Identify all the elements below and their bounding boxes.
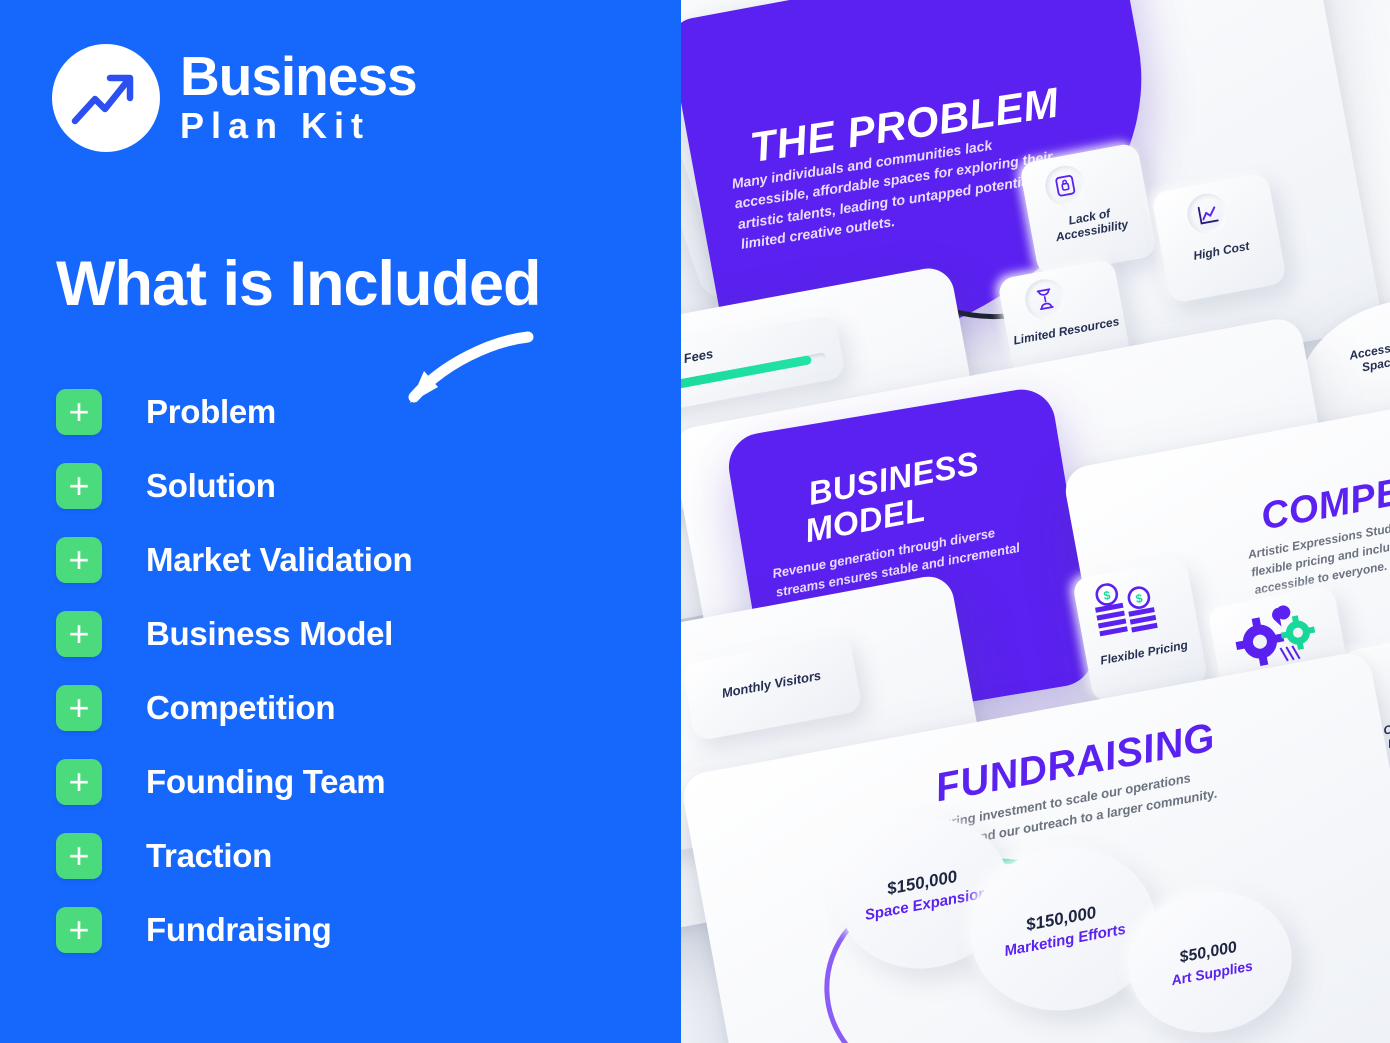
feature-label-competition: Competition	[146, 689, 335, 727]
feature-item-fundraising[interactable]: + Fundraising	[56, 905, 616, 954]
plus-icon: +	[56, 685, 102, 731]
lock-document-icon	[1042, 162, 1089, 209]
plus-icon: +	[56, 611, 102, 657]
feature-label-traction: Traction	[146, 837, 272, 875]
plus-icon: +	[56, 759, 102, 805]
feature-item-solution[interactable]: + Solution	[56, 461, 616, 510]
feature-item-founding-team[interactable]: + Founding Team	[56, 757, 616, 806]
plus-icon: +	[56, 463, 102, 509]
traction-metric-card: Monthly Visitors	[681, 634, 862, 742]
feature-item-competition[interactable]: + Competition	[56, 683, 616, 732]
feature-item-problem[interactable]: + Problem	[56, 387, 616, 436]
coin-stacks-icon: $ $	[1089, 572, 1181, 651]
brand-name: Business Plan Kit	[180, 49, 417, 147]
plus-icon: +	[56, 833, 102, 879]
brand-name-line2: Plan Kit	[180, 104, 417, 147]
feature-label-market-validation: Market Validation	[146, 541, 412, 579]
problem-card-accessibility[interactable]: Lack of Accessibility	[1019, 142, 1158, 277]
feature-item-traction[interactable]: + Traction	[56, 831, 616, 880]
brand-name-line1: Business	[180, 49, 417, 104]
growth-chart-circle-icon	[52, 44, 160, 152]
feature-item-market-validation[interactable]: + Market Validation	[56, 535, 616, 584]
feature-label-problem: Problem	[146, 393, 276, 431]
brand-logo[interactable]: Business Plan Kit	[52, 44, 417, 152]
problem-card-accessibility-label: Lack of Accessibility	[1035, 200, 1146, 248]
left-blue-panel: Business Plan Kit What is Included + Pro…	[0, 0, 681, 1043]
traction-metric-label: Monthly Visitors	[696, 663, 846, 706]
plus-icon: +	[56, 907, 102, 953]
included-features-list: + Problem + Solution + Market Validation…	[56, 387, 616, 979]
promotional-graphic: THE PROBLEM Many individuals and communi…	[0, 0, 1390, 1043]
page-title: What is Included	[56, 248, 541, 320]
feature-label-business-model: Business Model	[146, 615, 393, 653]
plus-icon: +	[56, 537, 102, 583]
feature-item-business-model[interactable]: + Business Model	[56, 609, 616, 658]
problem-card-high-cost[interactable]: High Cost	[1151, 172, 1287, 304]
chart-down-icon	[1184, 190, 1231, 237]
plus-icon: +	[56, 389, 102, 435]
problem-card-high-cost-label: High Cost	[1168, 234, 1275, 267]
hourglass-icon	[1022, 276, 1069, 323]
feature-label-fundraising: Fundraising	[146, 911, 332, 949]
feature-label-solution: Solution	[146, 467, 276, 505]
problem-card-limited-resources-label: Limited Resources	[1011, 314, 1122, 348]
accessible-spaces-label: Accessible Spaces	[1334, 335, 1390, 380]
feature-label-founding-team: Founding Team	[146, 763, 385, 801]
